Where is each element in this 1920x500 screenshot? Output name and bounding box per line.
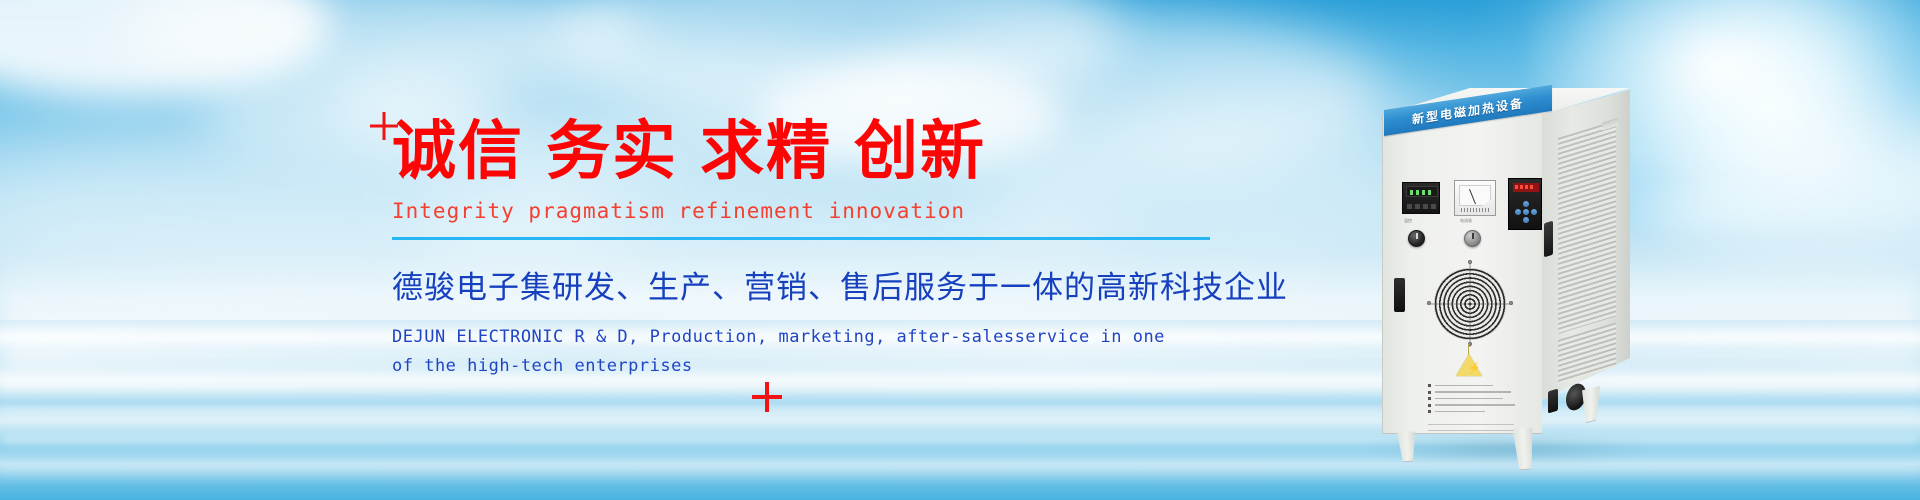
temperature-controller-display[interactable]	[1402, 182, 1440, 214]
page-title: 诚信务实求精创新	[392, 118, 1262, 185]
fan-screw	[1427, 301, 1431, 305]
spec-text	[1435, 385, 1493, 387]
digital-readout	[1406, 186, 1438, 197]
selector-knob-right[interactable]	[1464, 230, 1481, 247]
keypad-buttons[interactable]	[1515, 201, 1537, 223]
spec-bullet	[1428, 384, 1431, 387]
spec-bullet	[1428, 391, 1431, 394]
panel-caption-right: 电流表	[1460, 218, 1472, 224]
headline-word-3: 求精	[700, 115, 832, 187]
tagline-chinese: 德骏电子集研发、生产、营销、售后服务于一体的高新科技企业	[392, 262, 1262, 307]
cabinet-leg	[1582, 386, 1600, 424]
spec-line	[1428, 391, 1520, 394]
spec-bullet	[1428, 404, 1431, 407]
spec-bullet	[1428, 397, 1431, 400]
specification-text-block	[1428, 384, 1520, 417]
keypad-left-button[interactable]	[1515, 209, 1521, 215]
spec-line	[1428, 404, 1520, 407]
panel-caption-left: 温控	[1404, 218, 1412, 224]
keypad-up-button[interactable]	[1523, 201, 1529, 207]
banner-text-block: 诚信务实求精创新 Integrity pragmatism refinement…	[392, 118, 1262, 381]
water-streak	[0, 466, 1920, 472]
selector-knob-left[interactable]	[1408, 230, 1425, 247]
spec-line	[1428, 410, 1520, 413]
spec-text	[1435, 404, 1515, 406]
spec-underline	[1428, 430, 1514, 431]
control-keypad[interactable]	[1508, 178, 1542, 230]
connector-port-rect	[1548, 388, 1558, 413]
keypad-right-button[interactable]	[1531, 209, 1537, 215]
ventilation-louvers	[1558, 120, 1616, 334]
promo-banner: 诚信务实求精创新 Integrity pragmatism refinement…	[0, 0, 1920, 500]
gauge-label	[1461, 208, 1489, 212]
spec-text	[1435, 391, 1511, 393]
fan-screw	[1468, 260, 1472, 264]
tagline-english: DEJUN ELECTRONIC R & D, Production, mark…	[392, 323, 1262, 381]
headline-word-4: 创新	[854, 115, 986, 187]
headline-word-1: 诚信	[392, 115, 524, 187]
headline-subtitle-english: Integrity pragmatism refinement innovati…	[392, 199, 1262, 223]
cabinet-handle	[1544, 221, 1553, 258]
keypad-led-display	[1513, 183, 1539, 192]
fan-grille-icon	[1434, 268, 1506, 340]
spec-underline	[1428, 424, 1514, 425]
warning-bolt-glyph: ⚡	[1468, 364, 1480, 374]
plus-mark-icon	[752, 382, 782, 412]
spec-bullet	[1428, 410, 1431, 413]
cabinet-leg	[1397, 431, 1417, 462]
fan-screw	[1509, 301, 1513, 305]
spec-text	[1435, 411, 1485, 413]
analog-ammeter-gauge	[1454, 180, 1496, 216]
spec-line	[1428, 384, 1520, 387]
spec-text	[1435, 398, 1503, 400]
tagline-english-line-1: DEJUN ELECTRONIC R & D, Production, mark…	[392, 323, 1262, 352]
spec-line	[1428, 397, 1520, 400]
product-image-heating-cabinet: 新型电磁加热设备 温控 电流表	[1372, 72, 1642, 462]
controller-button-row[interactable]	[1407, 204, 1437, 209]
keypad-down-button[interactable]	[1523, 217, 1529, 223]
divider	[392, 237, 1210, 240]
tagline-english-line-2: of the high-tech enterprises	[392, 352, 1262, 381]
front-port	[1394, 278, 1405, 312]
headline-word-2: 务实	[546, 115, 678, 187]
keypad-enter-button[interactable]	[1523, 209, 1529, 215]
